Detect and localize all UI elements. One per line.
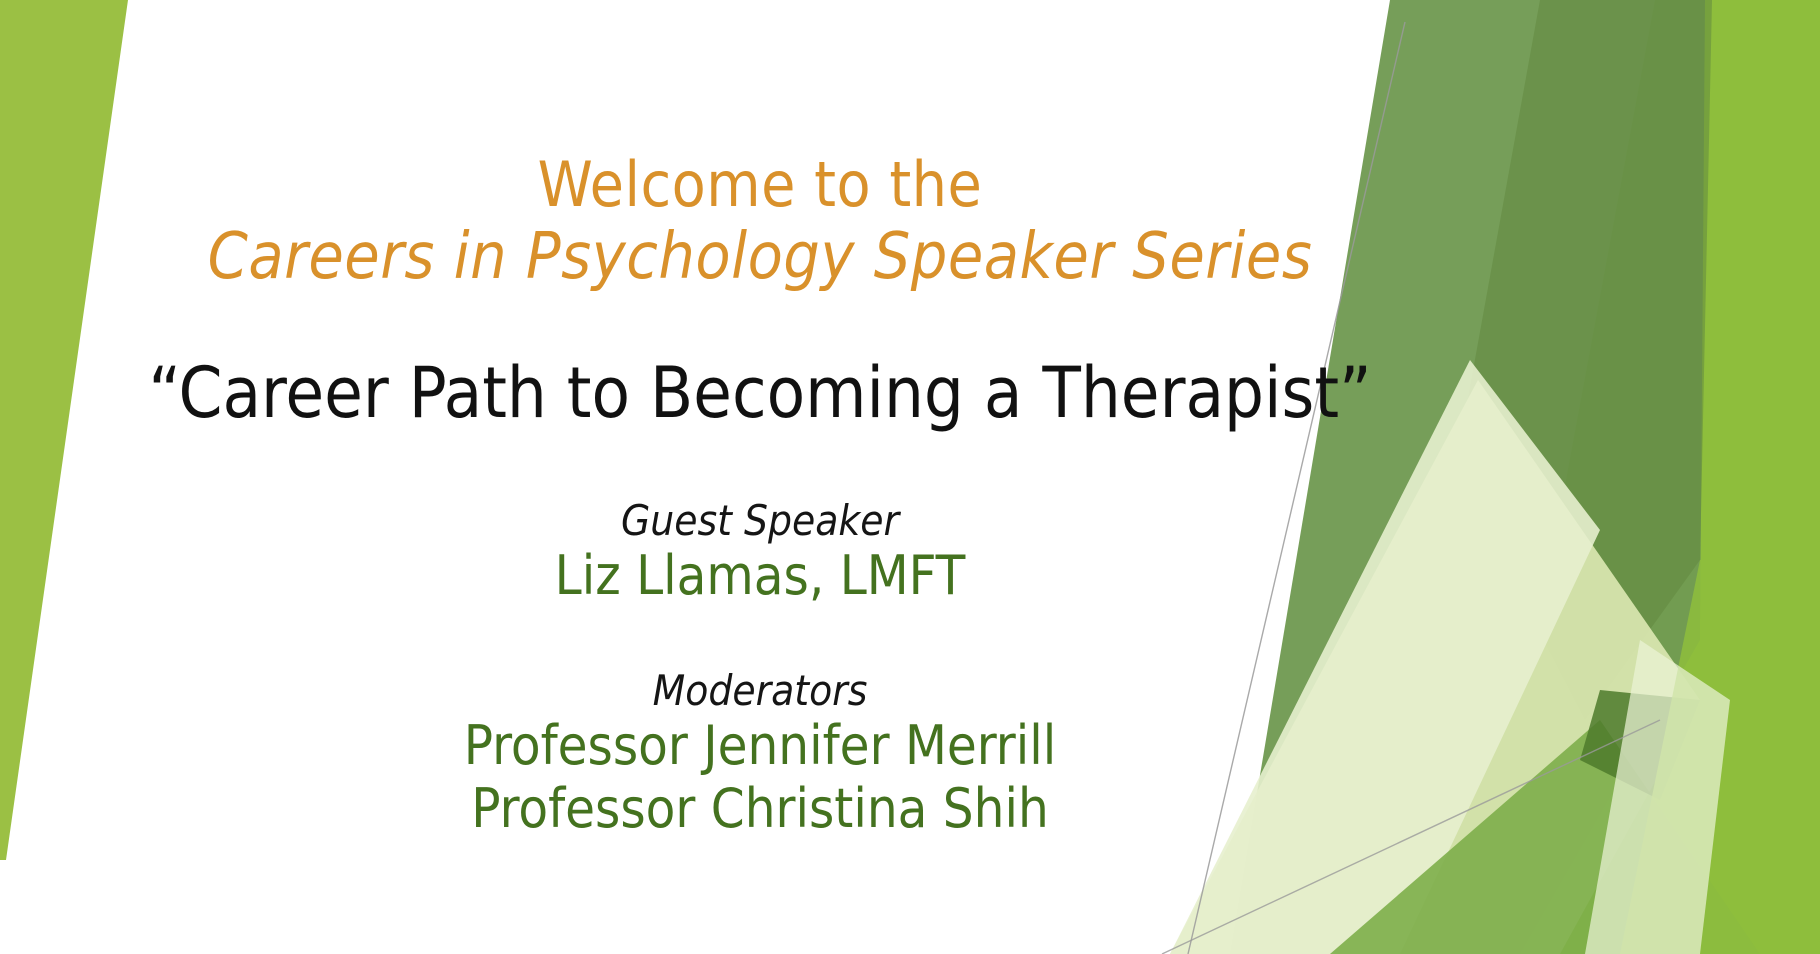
guest-speaker-name: Liz Llamas, LMFT bbox=[120, 545, 1400, 608]
right-lower-bright-wedge bbox=[1620, 560, 1820, 954]
slide-text-content: Welcome to the Careers in Psychology Spe… bbox=[120, 0, 1400, 954]
deep-green-facet bbox=[1580, 690, 1700, 800]
right-dark-olive-panel bbox=[1455, 0, 1712, 720]
left-green-wedge bbox=[0, 0, 128, 860]
welcome-line-2-series-name: Careers in Psychology Speaker Series bbox=[120, 221, 1400, 294]
presentation-slide: Welcome to the Careers in Psychology Spe… bbox=[0, 0, 1820, 954]
welcome-heading: Welcome to the Careers in Psychology Spe… bbox=[120, 150, 1400, 294]
guest-speaker-block: Guest Speaker Liz Llamas, LMFT bbox=[120, 496, 1400, 608]
welcome-line-1: Welcome to the bbox=[120, 150, 1400, 221]
moderators-block: Moderators Professor Jennifer Merrill Pr… bbox=[120, 666, 1400, 841]
pale-vertical-sliver bbox=[1585, 640, 1730, 954]
talk-title: “Career Path to Becoming a Therapist” bbox=[120, 352, 1400, 434]
right-bright-green-band bbox=[1478, 0, 1820, 954]
moderator-name-2: Professor Christina Shih bbox=[120, 778, 1400, 841]
guest-speaker-label: Guest Speaker bbox=[120, 496, 1400, 546]
moderator-name-1: Professor Jennifer Merrill bbox=[120, 715, 1400, 778]
moderators-label: Moderators bbox=[120, 666, 1400, 716]
talk-title-block: “Career Path to Becoming a Therapist” bbox=[120, 352, 1400, 434]
